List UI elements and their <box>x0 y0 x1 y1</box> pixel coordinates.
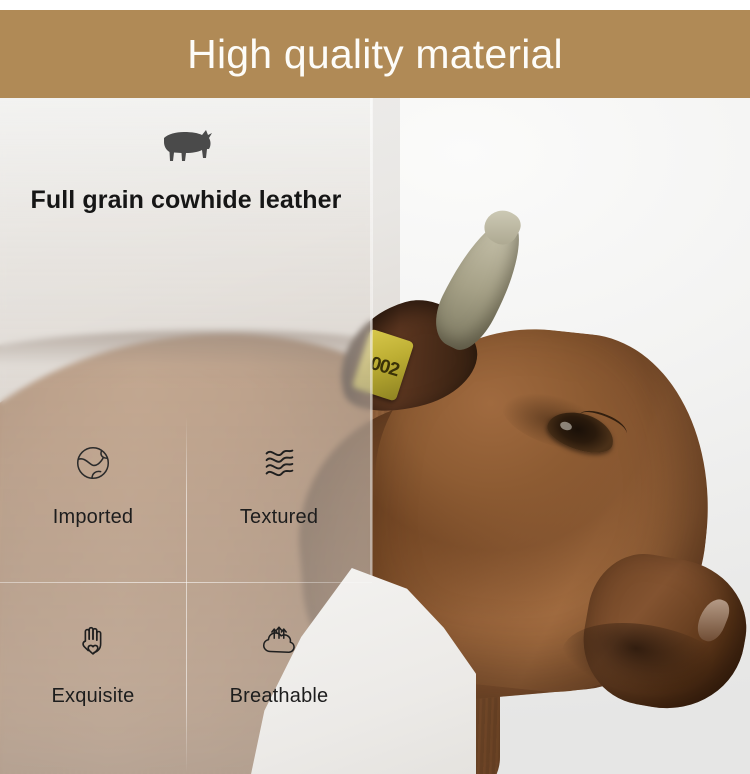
headline-block: Full grain cowhide leather <box>0 126 372 215</box>
headline-text: Full grain cowhide leather <box>0 186 372 215</box>
feature-label: Textured <box>240 506 318 529</box>
globe-icon <box>72 442 114 484</box>
hand-heart-icon <box>72 621 114 663</box>
feature-item-textured: Textured <box>186 416 372 595</box>
cloud-breath-icon <box>258 621 300 663</box>
cow-silhouette-icon <box>158 126 214 164</box>
feature-item-breathable: Breathable <box>186 595 372 774</box>
waves-icon <box>258 442 300 484</box>
feature-label: Breathable <box>230 685 329 708</box>
feature-item-imported: Imported <box>0 416 186 595</box>
feature-grid: Imported Textured <box>0 416 372 774</box>
banner-title: High quality material <box>187 34 563 75</box>
feature-item-exquisite: Exquisite <box>0 595 186 774</box>
feature-label: Imported <box>53 506 134 529</box>
product-feature-banner: High quality material 002 <box>0 0 750 774</box>
photo-stage: 002 Full grain cowhide leather <box>0 98 750 774</box>
header-banner: High quality material <box>0 10 750 98</box>
feature-label: Exquisite <box>52 685 135 708</box>
cow-white-patch <box>430 684 454 706</box>
